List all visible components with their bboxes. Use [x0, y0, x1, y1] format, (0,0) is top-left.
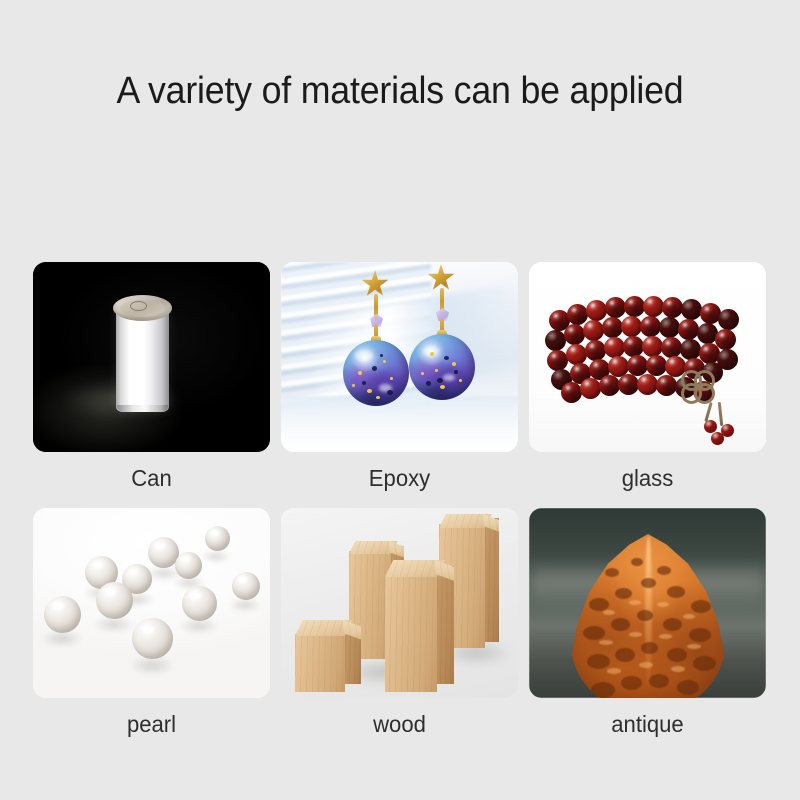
material-label-can: Can [38, 464, 266, 492]
material-cell-epoxy[interactable]: Epoxy [281, 262, 518, 492]
material-cell-wood[interactable]: wood [281, 508, 518, 738]
bead-bracelet [545, 296, 751, 408]
can-lid [113, 295, 172, 321]
material-image-antique [529, 508, 766, 698]
pearl-bead [44, 596, 81, 633]
material-cell-can[interactable]: Can [33, 262, 270, 492]
wood-block-front-center [385, 560, 437, 692]
material-image-epoxy [281, 262, 518, 452]
page-title: A variety of materials can be applied [24, 68, 776, 114]
wood-block-small-cube [295, 620, 345, 692]
material-image-pearl [33, 508, 270, 698]
can-body [116, 307, 169, 412]
materials-grid: Can [33, 262, 767, 738]
material-image-wood [281, 508, 518, 698]
infographic-page: A variety of materials can be applied Ca… [0, 0, 800, 800]
material-label-wood: wood [286, 710, 514, 738]
gold-star-stud-icon [427, 264, 457, 290]
can-pull-tab [130, 301, 147, 311]
epoxy-resin-sphere-left [343, 340, 409, 406]
tassel-bead-1 [704, 420, 717, 433]
chinese-knot-icon [677, 366, 717, 406]
pearl-bead [205, 526, 230, 551]
pearl-bead [96, 582, 133, 619]
tassel-bead-3 [711, 432, 724, 445]
material-label-glass: glass [534, 464, 762, 492]
material-label-epoxy: Epoxy [286, 464, 514, 492]
material-image-can [33, 262, 270, 452]
gold-star-stud-icon [361, 270, 391, 296]
pearl-bead [175, 552, 202, 579]
material-image-glass [529, 262, 766, 452]
material-cell-antique[interactable]: antique [529, 508, 766, 738]
epoxy-resin-sphere-right [409, 334, 475, 400]
material-label-antique: antique [534, 710, 762, 738]
pearl-bead [182, 586, 217, 621]
material-label-pearl: pearl [38, 710, 266, 738]
material-cell-glass[interactable]: glass [529, 262, 766, 492]
epoxy-table-surface [281, 396, 518, 452]
pearl-bead [232, 572, 260, 600]
pearl-bead [132, 618, 173, 659]
material-cell-pearl[interactable]: pearl [33, 508, 270, 738]
